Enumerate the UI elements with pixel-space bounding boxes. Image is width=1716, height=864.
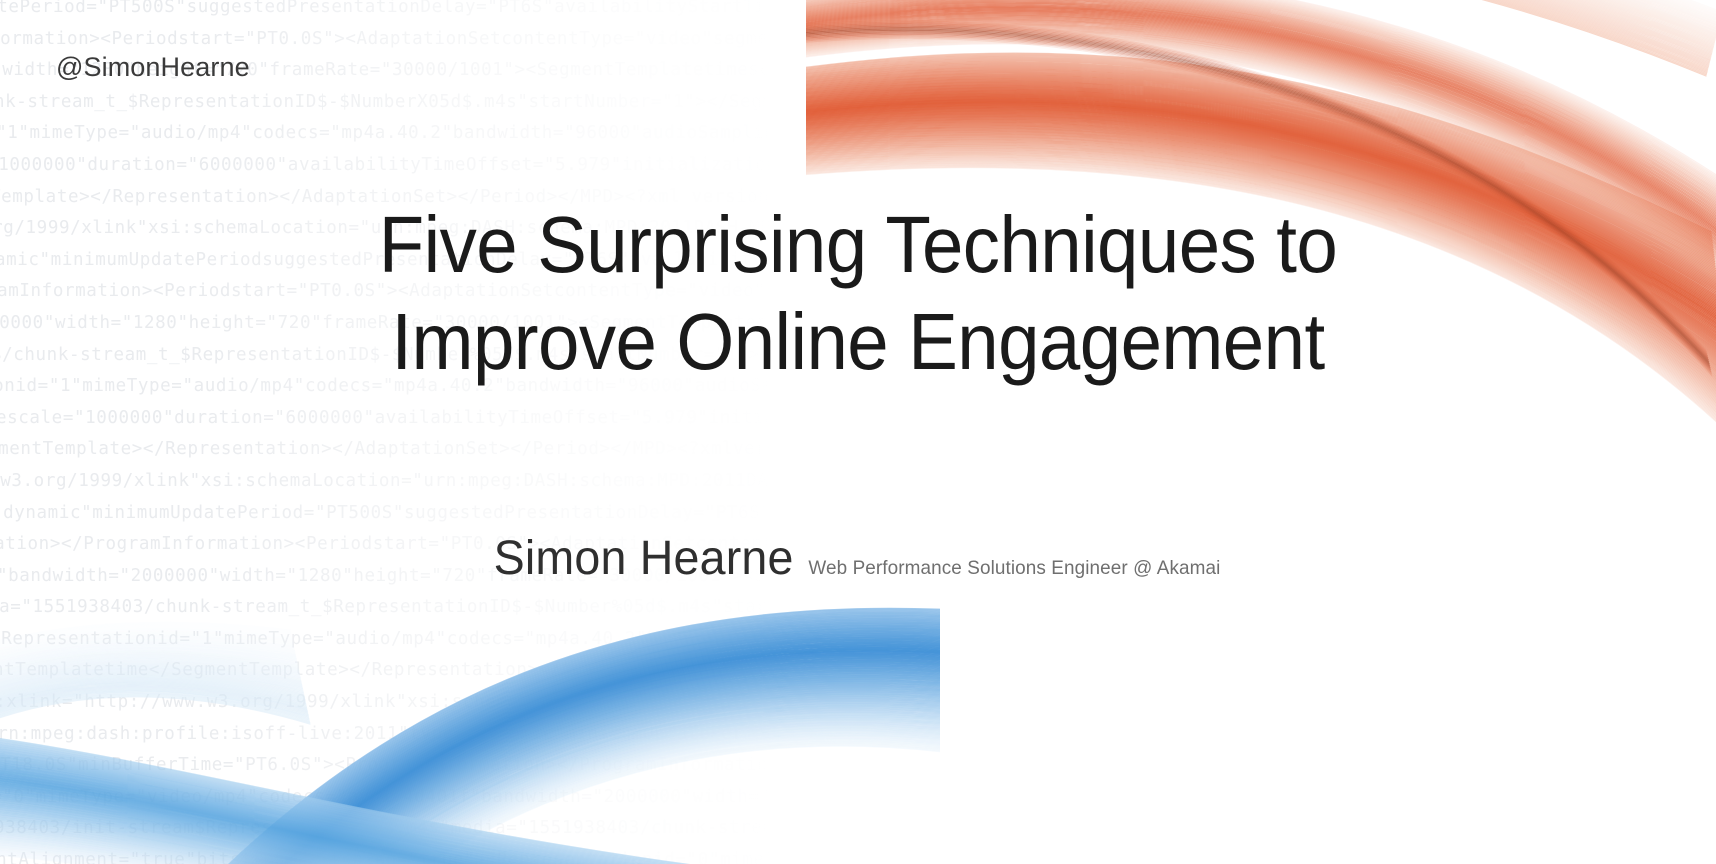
blue-cross-strand (0, 736, 940, 864)
blue-fan-strand (0, 623, 290, 855)
blue-main-strand (103, 641, 940, 864)
blue-fan-strand (0, 666, 302, 864)
blue-cross-strand (0, 821, 940, 864)
blue-fan-strand (0, 670, 303, 864)
blue-main-strand (199, 735, 940, 864)
blue-cross-strand (0, 752, 940, 864)
orange-tail-strand (806, 0, 1716, 14)
blue-cross-strand (0, 844, 940, 864)
blue-main-strand (156, 693, 940, 864)
twitter-handle: @SimonHearne (56, 52, 250, 83)
orange-tail-strand (806, 0, 1716, 12)
blue-cross-strand (0, 735, 940, 864)
blue-cross-strand (0, 780, 940, 864)
blue-fan-strand (0, 673, 304, 864)
blue-fan-strand (0, 694, 309, 864)
blue-fan-strand (0, 632, 293, 864)
blue-fan-strand (0, 633, 293, 864)
blue-cross-strand (0, 847, 940, 864)
blue-main-strand (175, 712, 940, 864)
blue-main-strand (107, 645, 940, 864)
blue-main-strand (205, 741, 940, 864)
blue-fan-strand (0, 634, 293, 864)
blue-cross-strand (0, 729, 940, 864)
orange-tail-strand (806, 0, 1715, 42)
blue-cross-strand (0, 819, 940, 864)
blue-cross-strand (0, 724, 940, 864)
blue-cross-strand (0, 737, 940, 864)
blue-main-strand (187, 724, 940, 864)
blue-fan-strand (0, 660, 300, 864)
blue-main-strand (148, 686, 940, 864)
blue-fan-strand (0, 662, 300, 864)
blue-cross-strand (0, 759, 940, 864)
blue-fan-strand (0, 672, 303, 864)
blue-cross-strand (0, 731, 940, 864)
blue-main-strand (164, 702, 940, 864)
code-watermark-fade (0, 0, 900, 864)
blue-cross-strand (0, 781, 940, 864)
blue-cross-strand (0, 841, 940, 864)
blue-cross-strand (0, 837, 940, 864)
blue-main-strand (118, 656, 940, 864)
orange-tail-strand (806, 0, 1708, 69)
blue-main-strand (124, 662, 940, 864)
orange-tail-strand (806, 0, 1707, 71)
author-block: Simon Hearne Web Performance Solutions E… (0, 530, 1716, 588)
blue-cross-strand (0, 839, 940, 864)
blue-cross-strand (0, 833, 940, 864)
blue-main-strand (209, 745, 940, 864)
blue-main-strand (95, 633, 940, 864)
blue-fan-strand (0, 681, 306, 864)
orange-tail-strand (806, 0, 1707, 70)
blue-fan-strand (0, 687, 307, 864)
blue-main-strand (117, 655, 940, 864)
orange-tail-strand (806, 0, 1713, 48)
blue-cross-strand (0, 811, 940, 864)
code-line: d="0"mimeType="video/mp4"codecs="avc1.4d… (0, 782, 886, 814)
orange-upper-strand (806, 0, 1716, 187)
orange-upper-strand (806, 0, 1716, 180)
blue-main-strand (121, 659, 940, 864)
blue-cross-strand (0, 770, 940, 864)
blue-cross-strand (0, 809, 940, 864)
blue-cross-strand (0, 800, 940, 864)
blue-main-strand (180, 717, 940, 864)
blue-cross-strand (0, 757, 940, 864)
blue-main-strand (104, 642, 940, 864)
blue-fan-strand (0, 628, 291, 864)
blue-main-strand (138, 676, 940, 864)
orange-tail-strand (806, 0, 1712, 53)
blue-fan-strand (0, 684, 307, 864)
orange-tail-strand (806, 0, 1716, 13)
orange-tail-strand (806, 0, 1711, 57)
blue-main-strand (192, 728, 940, 864)
orange-upper-strand (806, 0, 1716, 182)
blue-main-strand (172, 709, 940, 864)
orange-upper-strand (806, 0, 1716, 213)
blue-fan-strand (0, 661, 300, 864)
orange-tail-strand (806, 0, 1709, 64)
blue-main-strand (152, 690, 940, 864)
code-line: ="1000000"duration="6000000"availability… (0, 150, 886, 182)
blue-cross-strand (0, 810, 940, 864)
blue-main-strand (91, 629, 940, 864)
blue-fan-strand (0, 657, 299, 864)
orange-upper-strand (806, 0, 1716, 199)
orange-upper-strand (806, 0, 1716, 225)
blue-main-strand (130, 668, 940, 864)
blue-cross-strand (0, 773, 940, 864)
orange-tail-strand (806, 0, 1711, 55)
blue-fan-strand (0, 663, 301, 864)
blue-fan-strand (0, 641, 295, 864)
blue-cross-strand (0, 755, 940, 864)
blue-cross-strand (0, 749, 940, 864)
orange-tail-strand (806, 0, 1716, 21)
blue-main-strand (160, 697, 940, 864)
blue-cross-strand (0, 836, 940, 864)
blue-main-strand (141, 678, 940, 864)
blue-cross-strand (0, 823, 940, 864)
blue-main-strand (116, 654, 940, 864)
orange-tail-strand (806, 0, 1716, 36)
blue-fan-strand (0, 636, 293, 864)
blue-cross-strand (0, 804, 940, 864)
presentation-slide: datePeriod="PT500S"suggestedPresentation… (0, 0, 1716, 864)
blue-main-strand (157, 694, 940, 864)
orange-tail-strand (806, 0, 1710, 62)
blue-cross-strand (0, 741, 940, 864)
blue-main-strand (110, 648, 940, 864)
orange-tail-strand (806, 0, 1715, 40)
blue-fan-strand (0, 671, 303, 864)
blue-cross-strand (0, 753, 940, 864)
blue-main-strand (166, 703, 940, 864)
blue-main-strand (126, 664, 940, 864)
blue-fan-strand (0, 627, 291, 862)
blue-fan-strand (0, 682, 306, 864)
orange-upper-strand (806, 0, 1716, 183)
orange-tail-strand (806, 0, 1716, 20)
title-line-1: Five Surprising Techniques to (60, 196, 1656, 293)
blue-main-strand (145, 683, 940, 864)
blue-main-strand (185, 722, 940, 864)
orange-upper-strand (806, 1, 1716, 227)
blue-main-strand (139, 677, 940, 864)
blue-fan-strand (0, 676, 304, 864)
blue-main-strand (149, 687, 940, 864)
blue-cross-strand (0, 748, 940, 864)
blue-cross-strand (0, 785, 940, 864)
blue-fan-strand (0, 656, 299, 864)
blue-cross-strand (0, 848, 940, 864)
code-line: datePeriod="PT500S"suggestedPresentation… (0, 0, 886, 24)
orange-upper-strand (806, 0, 1716, 194)
orange-tail-strand (806, 0, 1707, 74)
orange-upper-strand (806, 0, 1716, 189)
blue-main-strand (184, 721, 940, 864)
blue-fan-strand (0, 649, 297, 864)
blue-main-strand (106, 644, 940, 864)
code-line: ="1"mimeType="audio/mp4"codecs="mp4a.40.… (0, 118, 886, 150)
blue-main-strand (194, 730, 940, 864)
blue-cross-strand (0, 726, 940, 864)
blue-main-strand (182, 719, 940, 864)
blue-cross-strand (0, 792, 940, 864)
blue-fan-strand (0, 626, 291, 860)
orange-tail-strand (806, 0, 1716, 35)
orange-tail-strand (806, 0, 1716, 25)
blue-main-strand (189, 726, 940, 864)
blue-main-strand (198, 734, 940, 864)
slide-title: Five Surprising Techniques to Improve On… (0, 196, 1716, 390)
orange-upper-strand (806, 0, 1716, 192)
blue-main-strand (128, 666, 940, 864)
orange-tail-strand (806, 0, 1707, 72)
blue-cross-strand (0, 815, 940, 864)
blue-fan-strand (0, 630, 292, 864)
blue-fan-strand (0, 667, 302, 864)
blue-cross-strand (0, 816, 940, 864)
blue-fan-strand (0, 625, 291, 858)
blue-cross-strand (0, 723, 940, 864)
blue-main-strand (200, 737, 940, 864)
blue-main-strand (183, 720, 940, 864)
blue-cross-strand (0, 849, 940, 864)
blue-cross-strand (0, 793, 940, 864)
blue-fan-strand (0, 640, 295, 864)
blue-fan-strand (0, 680, 305, 864)
orange-upper-strand (806, 0, 1716, 220)
blue-cross-strand (0, 734, 940, 864)
blue-main-strand (83, 621, 940, 864)
blue-main-strand (193, 729, 940, 864)
blue-cross-strand (0, 788, 940, 864)
blue-main-strand (114, 653, 940, 864)
orange-tail-strand (806, 0, 1715, 38)
blue-fan-strand (0, 622, 290, 854)
blue-main-strand (151, 689, 940, 864)
blue-cross-strand (0, 765, 940, 864)
blue-cross-strand (0, 797, 940, 864)
blue-main-strand (207, 743, 940, 864)
orange-tail-strand (806, 0, 1716, 16)
blue-fan-strand (0, 638, 294, 864)
orange-tail-strand (806, 0, 1709, 65)
orange-tail-strand (806, 0, 1716, 23)
code-line: w.w3.org/1999/xlink"xsi:schemaLocation="… (0, 466, 886, 498)
blue-main-strand (133, 671, 940, 864)
blue-main-strand (73, 612, 940, 864)
blue-main-strand (179, 715, 940, 864)
blue-main-strand (112, 651, 940, 864)
orange-tail-strand (806, 0, 1716, 18)
orange-upper-strand (806, 0, 1716, 190)
blue-main-strand (142, 679, 940, 864)
orange-tail-strand (806, 0, 1713, 46)
blue-cross-strand (0, 764, 940, 864)
blue-cross-strand (0, 831, 940, 864)
blue-main-strand (119, 657, 940, 864)
blue-fan-strand (0, 693, 309, 864)
blue-main-strand (146, 684, 940, 864)
blue-main-strand (162, 700, 940, 864)
blue-cross-strand (0, 808, 940, 864)
blue-cross-strand (0, 832, 940, 864)
blue-main-strand (171, 708, 940, 864)
blue-fan-strand (0, 642, 295, 864)
blue-cross-strand (0, 799, 940, 864)
blue-main-strand (99, 638, 940, 864)
blue-fan-strand (0, 648, 297, 864)
orange-tail-strand (806, 0, 1716, 33)
blue-cross-strand (0, 787, 940, 864)
blue-cross-strand (0, 806, 940, 864)
blue-cross-strand (0, 845, 940, 864)
blue-main-strand (158, 695, 940, 864)
orange-tail-strand (806, 0, 1713, 49)
blue-cross-strand (0, 789, 940, 864)
blue-fan-strand (0, 629, 292, 864)
orange-tail-strand (806, 0, 1716, 30)
blue-cross-strand (0, 763, 940, 864)
blue-main-strand (176, 713, 940, 864)
blue-cross-strand (0, 846, 940, 864)
orange-upper-strand (806, 0, 1716, 185)
blue-cross-strand (0, 762, 940, 864)
blue-main-strand (97, 635, 940, 864)
blue-cross-strand (0, 778, 940, 864)
orange-tail-strand (806, 0, 1716, 26)
blue-main-strand (71, 609, 940, 864)
blue-fan-strand (0, 631, 292, 864)
orange-tail-strand (806, 0, 1712, 52)
blue-main-strand (134, 672, 940, 864)
blue-fan-strand (0, 669, 302, 864)
blue-fan-strand (0, 650, 297, 864)
blue-main-strand (208, 744, 940, 864)
blue-cross-strand (0, 751, 940, 864)
blue-cross-strand (0, 791, 940, 864)
blue-fan-strand (0, 688, 308, 864)
blue-cross-strand (0, 825, 940, 864)
blue-main-strand (109, 647, 940, 864)
blue-ribbon-decoration (0, 424, 940, 864)
code-line: gmentTemplate></Representation></Adaptat… (0, 434, 886, 466)
orange-tail-strand (806, 0, 1706, 76)
blue-fan-strand (0, 665, 301, 864)
blue-main-strand (84, 622, 940, 864)
orange-tail-strand (806, 0, 1716, 17)
orange-tail-strand (806, 0, 1709, 63)
blue-main-strand (188, 725, 940, 864)
blue-main-strand (74, 613, 940, 864)
blue-cross-strand (0, 774, 940, 864)
blue-main-strand (137, 675, 940, 864)
orange-upper-strand (806, 0, 1716, 197)
orange-upper-strand (806, 2, 1716, 229)
blue-cross-strand (0, 758, 940, 864)
blue-main-strand (82, 620, 940, 864)
orange-tail-strand (806, 0, 1714, 45)
blue-main-strand (203, 740, 940, 864)
blue-cross-strand (0, 738, 940, 864)
blue-main-strand (159, 696, 940, 864)
code-line: ><Representationid="1"mimeType="audio/mp… (0, 624, 886, 656)
blue-cross-strand (0, 838, 940, 864)
blue-main-strand (197, 733, 940, 864)
orange-upper-strand (806, 0, 1716, 206)
blue-main-strand (143, 680, 940, 864)
blue-main-strand (79, 617, 940, 864)
blue-main-strand (92, 630, 940, 864)
blue-main-strand (129, 667, 940, 864)
blue-cross-strand (0, 824, 940, 864)
code-line: ia="1551938403/chunk-stream_t_$Represent… (0, 592, 886, 624)
author-role: Web Performance Solutions Engineer @ Aka… (809, 557, 1221, 580)
blue-fan-strand (0, 678, 305, 864)
orange-upper-strand (806, 0, 1716, 210)
orange-tail-strand (806, 0, 1708, 67)
blue-cross-strand (0, 775, 940, 864)
blue-main-strand (135, 673, 940, 864)
orange-upper-strand (806, 0, 1716, 222)
blue-main-strand (105, 643, 940, 864)
blue-cross-strand (0, 772, 940, 864)
orange-upper-strand (806, 0, 1716, 204)
orange-tail-strand (806, 0, 1708, 68)
blue-cross-strand (0, 814, 940, 864)
blue-main-strand (101, 640, 940, 864)
blue-cross-strand (0, 802, 940, 864)
code-line: 938403/init-stream$RepresentationID$.m4s… (0, 813, 886, 845)
orange-upper-strand (806, 0, 1716, 215)
orange-tail-strand (806, 0, 1716, 27)
blue-cross-strand (0, 827, 940, 864)
blue-cross-strand (0, 817, 940, 864)
blue-cross-strand (0, 756, 940, 864)
orange-tail-strand (806, 0, 1710, 59)
blue-cross-strand (0, 840, 940, 864)
blue-main-strand (90, 628, 940, 864)
blue-fan-strand (0, 643, 296, 864)
blue-main-strand (88, 627, 940, 864)
blue-main-strand (173, 710, 940, 864)
orange-upper-strand (806, 0, 1716, 208)
blue-main-strand (93, 631, 940, 864)
blue-cross-strand (0, 743, 940, 864)
blue-main-strand (125, 663, 940, 864)
blue-fan-strand (0, 668, 302, 864)
orange-tail-strand (806, 0, 1714, 44)
blue-cross-strand (0, 812, 940, 864)
code-line: nk-stream_t_$RepresentationID$-$NumberX0… (0, 87, 886, 119)
blue-main-strand (169, 706, 940, 864)
blue-main-strand (100, 639, 940, 864)
orange-tail-strand (806, 0, 1712, 51)
blue-main-strand (202, 739, 940, 864)
blue-fan-strand (0, 696, 310, 864)
blue-main-strand (206, 742, 940, 864)
blue-main-strand (177, 714, 940, 864)
orange-tail-strand (806, 0, 1711, 56)
blue-main-strand (94, 632, 940, 864)
blue-fan-strand (0, 683, 306, 864)
orange-tail-strand (806, 0, 1716, 24)
